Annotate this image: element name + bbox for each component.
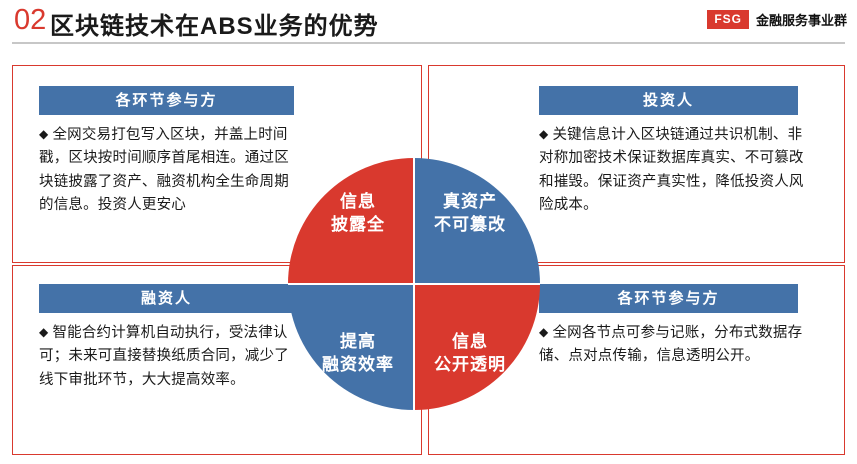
circle-seam-horizontal: [288, 283, 540, 285]
panel-body-top-right: ◆关键信息计入区块链通过共识机制、非对称加密技术保证数据库真实、不可篡改和摧毁。…: [539, 124, 807, 218]
logo-text: 金融服务事业群: [756, 10, 847, 29]
segment-line-1: 信息: [340, 191, 376, 214]
segment-line-2: 融资效率: [322, 354, 394, 377]
header-divider: [12, 42, 845, 44]
segment-line-2: 披露全: [331, 214, 385, 237]
panel-title-bottom-left: 融资人: [39, 284, 294, 313]
segment-line-2: 不可篡改: [434, 214, 506, 237]
page-title: 区块链技术在ABS业务的优势: [50, 6, 379, 41]
section-number: 02: [14, 4, 46, 37]
circle-segment-top-right: 真资产 不可篡改: [414, 158, 540, 284]
segment-line-2: 公开透明: [434, 354, 506, 377]
circle-segment-bottom-left: 提高 融资效率: [288, 284, 414, 410]
bullet-icon: ◆: [39, 325, 48, 339]
slide-header: 02 区块链技术在ABS业务的优势 FSG 金融服务事业群: [0, 0, 857, 48]
panel-body-bottom-right: ◆全网各节点可参与记账，分布式数据存储、点对点传输，信息透明公开。: [539, 322, 807, 369]
panel-body-text: 全网各节点可参与记账，分布式数据存储、点对点传输，信息透明公开。: [539, 325, 802, 364]
panel-title-top-right: 投资人: [539, 86, 798, 115]
segment-line-1: 信息: [452, 331, 488, 354]
panel-title-bottom-right: 各环节参与方: [539, 284, 798, 313]
segment-line-1: 提高: [340, 331, 376, 354]
panel-body-text: 智能合约计算机自动执行，受法律认可；未来可直接替换纸质合同，减少了线下审批环节，…: [39, 325, 289, 388]
bullet-icon: ◆: [539, 127, 548, 141]
bullet-icon: ◆: [539, 325, 548, 339]
center-circle-diagram: 信息 披露全 真资产 不可篡改 提高 融资效率 信息 公开透明: [288, 158, 540, 410]
circle-segment-top-left: 信息 披露全: [288, 158, 414, 284]
logo-mark-icon: FSG: [707, 10, 749, 29]
panel-title-top-left: 各环节参与方: [39, 86, 294, 115]
panel-body-text: 全网交易打包写入区块，并盖上时间戳，区块按时间顺序首尾相连。通过区块链披露了资产…: [39, 127, 289, 213]
panel-body-text: 关键信息计入区块链通过共识机制、非对称加密技术保证数据库真实、不可篡改和摧毁。保…: [539, 127, 804, 213]
bullet-icon: ◆: [39, 127, 48, 141]
panel-body-bottom-left: ◆智能合约计算机自动执行，受法律认可；未来可直接替换纸质合同，减少了线下审批环节…: [39, 322, 301, 392]
segment-line-1: 真资产: [443, 191, 497, 214]
brand-logo: FSG 金融服务事业群: [707, 8, 847, 30]
panel-body-top-left: ◆全网交易打包写入区块，并盖上时间戳，区块按时间顺序首尾相连。通过区块链披露了资…: [39, 124, 301, 218]
circle-segment-bottom-right: 信息 公开透明: [414, 284, 540, 410]
